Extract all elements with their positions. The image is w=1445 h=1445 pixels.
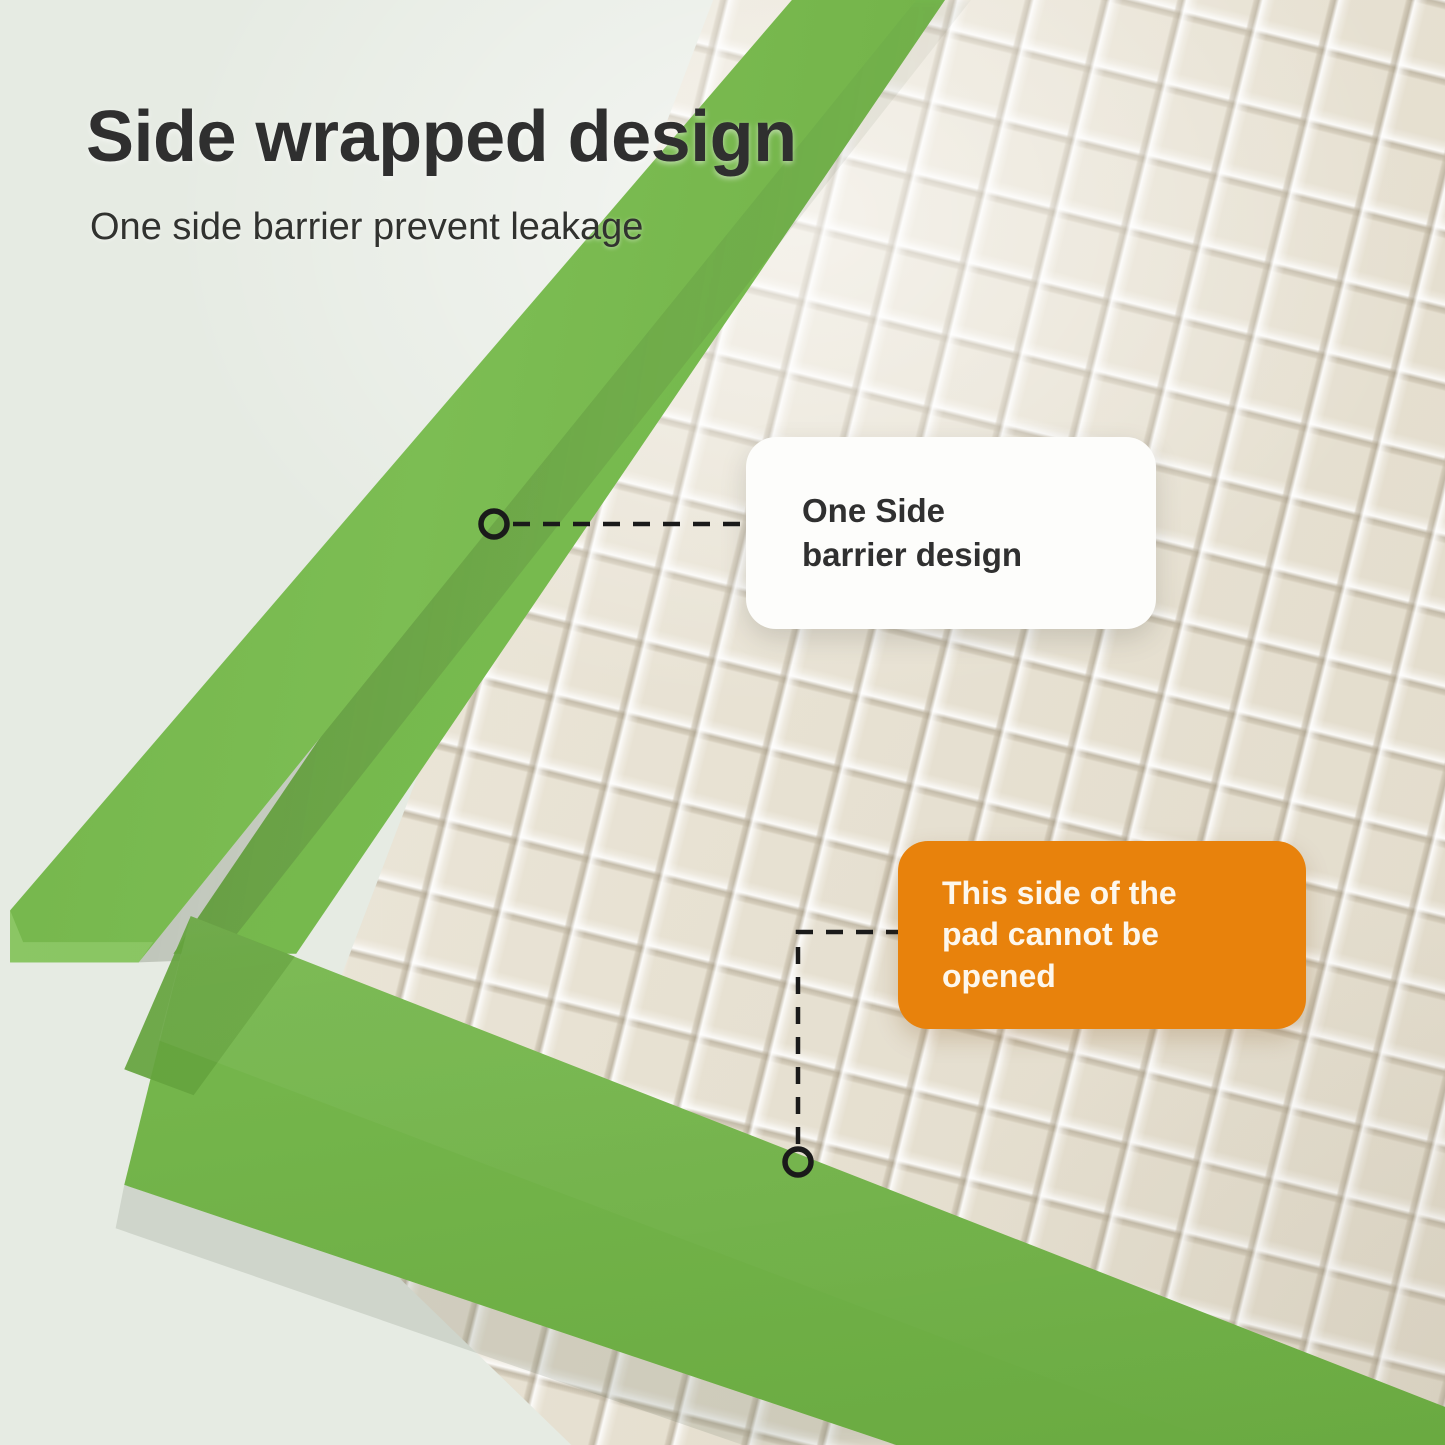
callout-one-side-barrier: One Side barrier design bbox=[746, 437, 1156, 629]
callout-cannot-be-opened: This side of the pad cannot be opened bbox=[898, 841, 1306, 1029]
page-subtitle: One side barrier prevent leakage bbox=[90, 206, 643, 249]
callout-line: This side of the bbox=[942, 873, 1306, 915]
callout-line: pad cannot be bbox=[942, 914, 1306, 956]
infographic-canvas: Side wrapped design One side barrier pre… bbox=[0, 0, 1445, 1445]
callout-line: One Side bbox=[802, 489, 1156, 533]
page-title: Side wrapped design bbox=[86, 96, 797, 178]
callout-line: opened bbox=[942, 956, 1306, 998]
callout-line: barrier design bbox=[802, 533, 1156, 577]
